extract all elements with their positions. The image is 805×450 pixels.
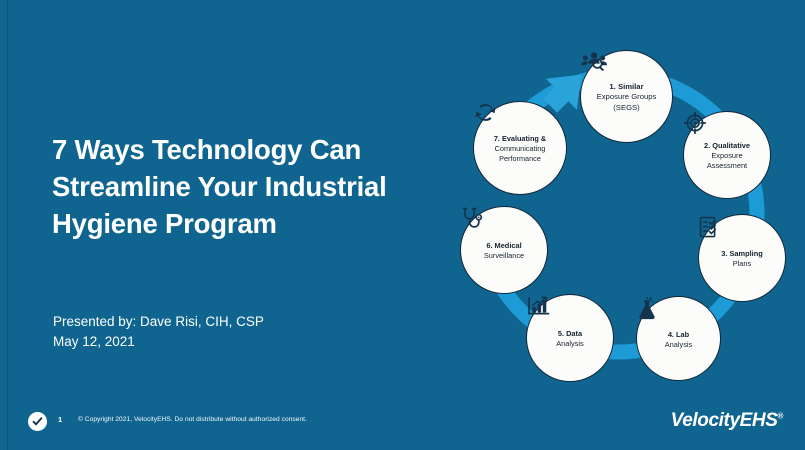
velocityehs-logo: VelocityEHS®: [671, 410, 783, 432]
cycle-node-6-line2: Surveillance: [484, 251, 524, 260]
cycle-node-7-line1: 7. Evaluating &: [494, 134, 546, 143]
cycle-node-2-line1: 2. Qualitative: [704, 141, 750, 150]
cycle-node-4-line2: Analysis: [665, 340, 693, 349]
checkmark-badge: [28, 412, 47, 431]
cycle-node-7-evaluating-communicating-performance[interactable]: 7. Evaluating & Communicating Performanc…: [473, 101, 567, 195]
cycle-node-3-line2: Plans: [733, 259, 752, 268]
cycle-node-4-lab-analysis[interactable]: 4. Lab Analysis: [636, 296, 721, 381]
slide-footer: 1 © Copyright 2021, VelocityEHS. Do not …: [0, 404, 805, 450]
cycle-node-4-label: 4. Lab Analysis: [660, 330, 698, 350]
cycle-node-1-line2: Exposure Groups: [597, 92, 657, 101]
cycle-node-6-line1: 6. Medical: [486, 241, 521, 250]
presenter-block: Presented by: Dave Risi, CIH, CSP May 12…: [53, 312, 413, 351]
cycle-node-6-label: 6. Medical Surveillance: [479, 241, 529, 261]
cycle-node-7-label: 7. Evaluating & Communicating Performanc…: [489, 134, 551, 163]
cycle-node-4-line1: 4. Lab: [668, 330, 689, 339]
cycle-node-6-medical-surveillance[interactable]: 6. Medical Surveillance: [460, 206, 548, 294]
cycle-node-3-sampling-plans[interactable]: 3. Sampling Plans: [698, 214, 786, 302]
cycle-node-1-line3: (SEGS): [613, 103, 639, 112]
presentation-date: May 12, 2021: [53, 332, 413, 352]
presenter-name: Presented by: Dave Risi, CIH, CSP: [53, 312, 413, 332]
page-number: 1: [58, 415, 62, 424]
cycle-node-5-label: 5. Data Analysis: [551, 329, 589, 349]
industrial-hygiene-cycle-diagram: 1. Similar Exposure Groups (SEGS) 2. Qua…: [443, 38, 795, 390]
cycle-node-2-line2: Exposure: [711, 151, 742, 160]
logo-wordmark: VelocityEHS: [671, 410, 778, 431]
registered-trademark-mark: ®: [778, 412, 784, 421]
cycle-node-7-line2: Communicating: [495, 144, 546, 153]
cycle-node-3-label: 3. Sampling Plans: [716, 249, 767, 269]
checkmark-icon: [31, 415, 44, 428]
presentation-slide: 7 Ways Technology Can Streamline Your In…: [0, 0, 805, 450]
slide-edge-divider: [7, 0, 8, 450]
cycle-node-5-line2: Analysis: [556, 339, 584, 348]
cycle-node-1-line1: 1. Similar: [609, 82, 643, 91]
cycle-node-7-line3: Performance: [499, 154, 541, 163]
cycle-node-2-label: 2. Qualitative Exposure Assessment: [699, 141, 755, 171]
cycle-node-2-line3: Assessment: [707, 161, 747, 170]
cycle-node-1-similar-exposure-groups[interactable]: 1. Similar Exposure Groups (SEGS): [580, 50, 673, 143]
cycle-node-5-data-analysis[interactable]: 5. Data Analysis: [526, 294, 614, 382]
copyright-text: © Copyright 2021, VelocityEHS. Do not di…: [78, 416, 307, 423]
page-title: 7 Ways Technology Can Streamline Your In…: [52, 132, 432, 243]
cycle-node-3-line1: 3. Sampling: [721, 249, 762, 258]
cycle-node-2-qualitative-exposure-assessment[interactable]: 2. Qualitative Exposure Assessment: [683, 111, 771, 199]
cycle-node-5-line1: 5. Data: [558, 329, 582, 338]
cycle-node-1-label: 1. Similar Exposure Groups (SEGS): [592, 82, 662, 113]
